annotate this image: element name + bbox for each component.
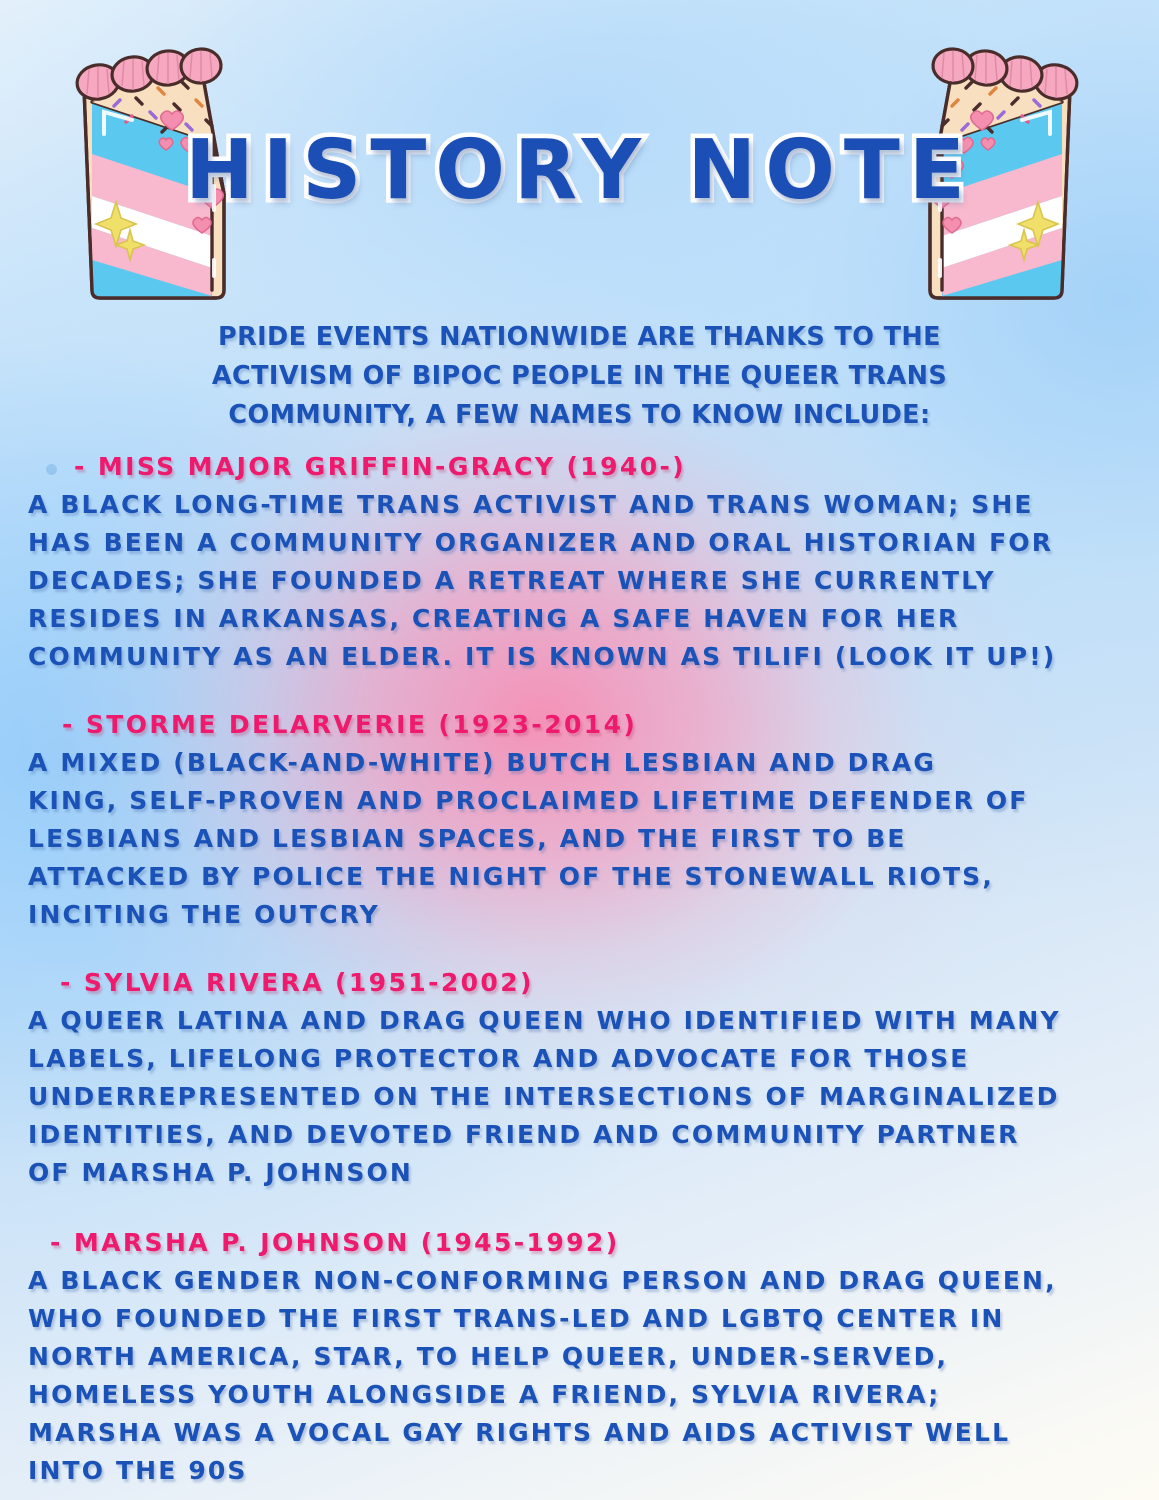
entry-body-line: LESBIANS AND LESBIAN SPACES, AND THE FIR… <box>28 820 1138 858</box>
entry-body-line: OF MARSHA P. JOHNSON <box>28 1154 1138 1192</box>
entry-body-line: A BLACK GENDER NON-CONFORMING PERSON AND… <box>28 1262 1138 1300</box>
entry-body-line: WHO FOUNDED THE FIRST TRANS-LED AND LGBT… <box>28 1300 1138 1338</box>
entry-body-line: MARSHA WAS A VOCAL GAY RIGHTS AND AIDS A… <box>28 1414 1138 1452</box>
page-title: HISTORY NOTE <box>0 130 1159 212</box>
poster-canvas: HISTORY NOTE PRIDE EVENTS NATIONWIDE ARE… <box>0 0 1159 1500</box>
entry-body-line: RESIDES IN ARKANSAS, CREATING A SAFE HAV… <box>28 600 1138 638</box>
entry-body: A MIXED (BLACK-AND-WHITE) BUTCH LESBIAN … <box>28 744 1138 934</box>
entry-body-line: NORTH AMERICA, STAR, TO HELP QUEER, UNDE… <box>28 1338 1138 1376</box>
intro-line: ACTIVISM OF BIPOC PEOPLE IN THE QUEER TR… <box>0 357 1159 396</box>
header: HISTORY NOTE <box>0 0 1159 320</box>
entry-heading-text: - STORME DELARVERIE (1923-2014) <box>62 710 637 739</box>
entry-heading-text: - MISS MAJOR GRIFFIN-GRACY (1940-) <box>74 452 686 481</box>
entry-heading: - MISS MAJOR GRIFFIN-GRACY (1940-) <box>28 448 1138 486</box>
entry-body-line: A BLACK LONG-TIME TRANS ACTIVIST AND TRA… <box>28 486 1138 524</box>
entry-miss-major-griffin-gracy: - MISS MAJOR GRIFFIN-GRACY (1940-) A BLA… <box>28 448 1138 676</box>
entry-body-line: COMMUNITY AS AN ELDER. IT IS KNOWN AS TI… <box>28 638 1138 676</box>
entry-body-line: UNDERREPRESENTED ON THE INTERSECTIONS OF… <box>28 1078 1138 1116</box>
entry-body-line: HAS BEEN A COMMUNITY ORGANIZER AND ORAL … <box>28 524 1138 562</box>
bullet-dot-icon <box>46 464 57 475</box>
entry-body-line: LABELS, LIFELONG PROTECTOR AND ADVOCATE … <box>28 1040 1138 1078</box>
entries-list: - MISS MAJOR GRIFFIN-GRACY (1940-) A BLA… <box>28 448 1138 1500</box>
entry-body-line: HOMELESS YOUTH ALONGSIDE A FRIEND, SYLVI… <box>28 1376 1138 1414</box>
entry-heading-text: - MARSHA P. JOHNSON (1945-1992) <box>50 1228 620 1257</box>
entry-body: A QUEER LATINA AND DRAG QUEEN WHO IDENTI… <box>28 1002 1138 1192</box>
entry-body: A BLACK LONG-TIME TRANS ACTIVIST AND TRA… <box>28 486 1138 676</box>
entry-body-line: INCITING THE OUTCRY <box>28 896 1138 934</box>
intro-line: PRIDE EVENTS NATIONWIDE ARE THANKS TO TH… <box>0 318 1159 357</box>
entry-heading: - STORME DELARVERIE (1923-2014) <box>28 706 1138 744</box>
entry-body-line: A MIXED (BLACK-AND-WHITE) BUTCH LESBIAN … <box>28 744 1138 782</box>
entry-body-line: ATTACKED BY POLICE THE NIGHT OF THE STON… <box>28 858 1138 896</box>
entry-sylvia-rivera: - SYLVIA RIVERA (1951-2002) A QUEER LATI… <box>28 964 1138 1192</box>
entry-body-line: A QUEER LATINA AND DRAG QUEEN WHO IDENTI… <box>28 1002 1138 1040</box>
entry-heading-text: - SYLVIA RIVERA (1951-2002) <box>60 968 534 997</box>
entry-storme-delarverie: - STORME DELARVERIE (1923-2014) A MIXED … <box>28 706 1138 934</box>
entry-body-line: DECADES; SHE FOUNDED A RETREAT WHERE SHE… <box>28 562 1138 600</box>
intro-line: COMMUNITY, A FEW NAMES TO KNOW INCLUDE: <box>0 396 1159 435</box>
entry-marsha-p-johnson: - MARSHA P. JOHNSON (1945-1992) A BLACK … <box>28 1224 1138 1490</box>
entry-heading: - SYLVIA RIVERA (1951-2002) <box>28 964 1138 1002</box>
entry-heading: - MARSHA P. JOHNSON (1945-1992) <box>28 1224 1138 1262</box>
entry-body-line: KING, SELF-PROVEN AND PROCLAIMED LIFETIM… <box>28 782 1138 820</box>
entry-body-line: INTO THE 90S <box>28 1452 1138 1490</box>
intro-paragraph: PRIDE EVENTS NATIONWIDE ARE THANKS TO TH… <box>0 318 1159 435</box>
entry-body-line: IDENTITIES, AND DEVOTED FRIEND AND COMMU… <box>28 1116 1138 1154</box>
entry-body: A BLACK GENDER NON-CONFORMING PERSON AND… <box>28 1262 1138 1490</box>
